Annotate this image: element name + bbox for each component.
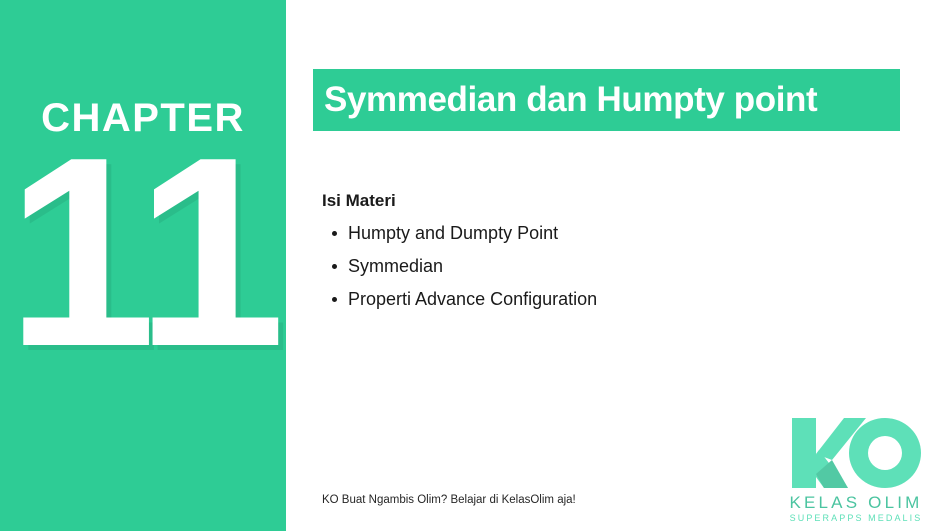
- slide-title: Symmedian dan Humpty point: [313, 80, 817, 120]
- bullet-icon: [332, 297, 337, 302]
- bullet-icon: [332, 231, 337, 236]
- ko-monogram-icon: [786, 414, 926, 492]
- chapter-panel: CHAPTER 11: [0, 0, 286, 531]
- list-item: Properti Advance Configuration: [322, 288, 882, 310]
- chapter-number: 11: [0, 118, 286, 388]
- list-item: Symmedian: [322, 255, 882, 277]
- brand-subtitle: SUPERAPPS MEDALIS: [786, 513, 926, 524]
- content-list: Humpty and Dumpty Point Symmedian Proper…: [322, 222, 882, 310]
- list-item-label: Properti Advance Configuration: [348, 289, 597, 309]
- brand-name: KELAS OLIM: [786, 493, 926, 513]
- list-item-label: Humpty and Dumpty Point: [348, 223, 558, 243]
- content-block: Isi Materi Humpty and Dumpty Point Symme…: [322, 190, 882, 321]
- brand-logo: KELAS OLIM SUPERAPPS MEDALIS: [786, 414, 926, 524]
- list-item-label: Symmedian: [348, 256, 443, 276]
- list-item: Humpty and Dumpty Point: [322, 222, 882, 244]
- content-heading: Isi Materi: [322, 190, 882, 212]
- footer-tagline: KO Buat Ngambis Olim? Belajar di KelasOl…: [322, 493, 576, 508]
- title-banner: Symmedian dan Humpty point: [313, 69, 900, 131]
- slide-canvas: CHAPTER 11 Symmedian dan Humpty point Is…: [0, 0, 944, 531]
- bullet-icon: [332, 264, 337, 269]
